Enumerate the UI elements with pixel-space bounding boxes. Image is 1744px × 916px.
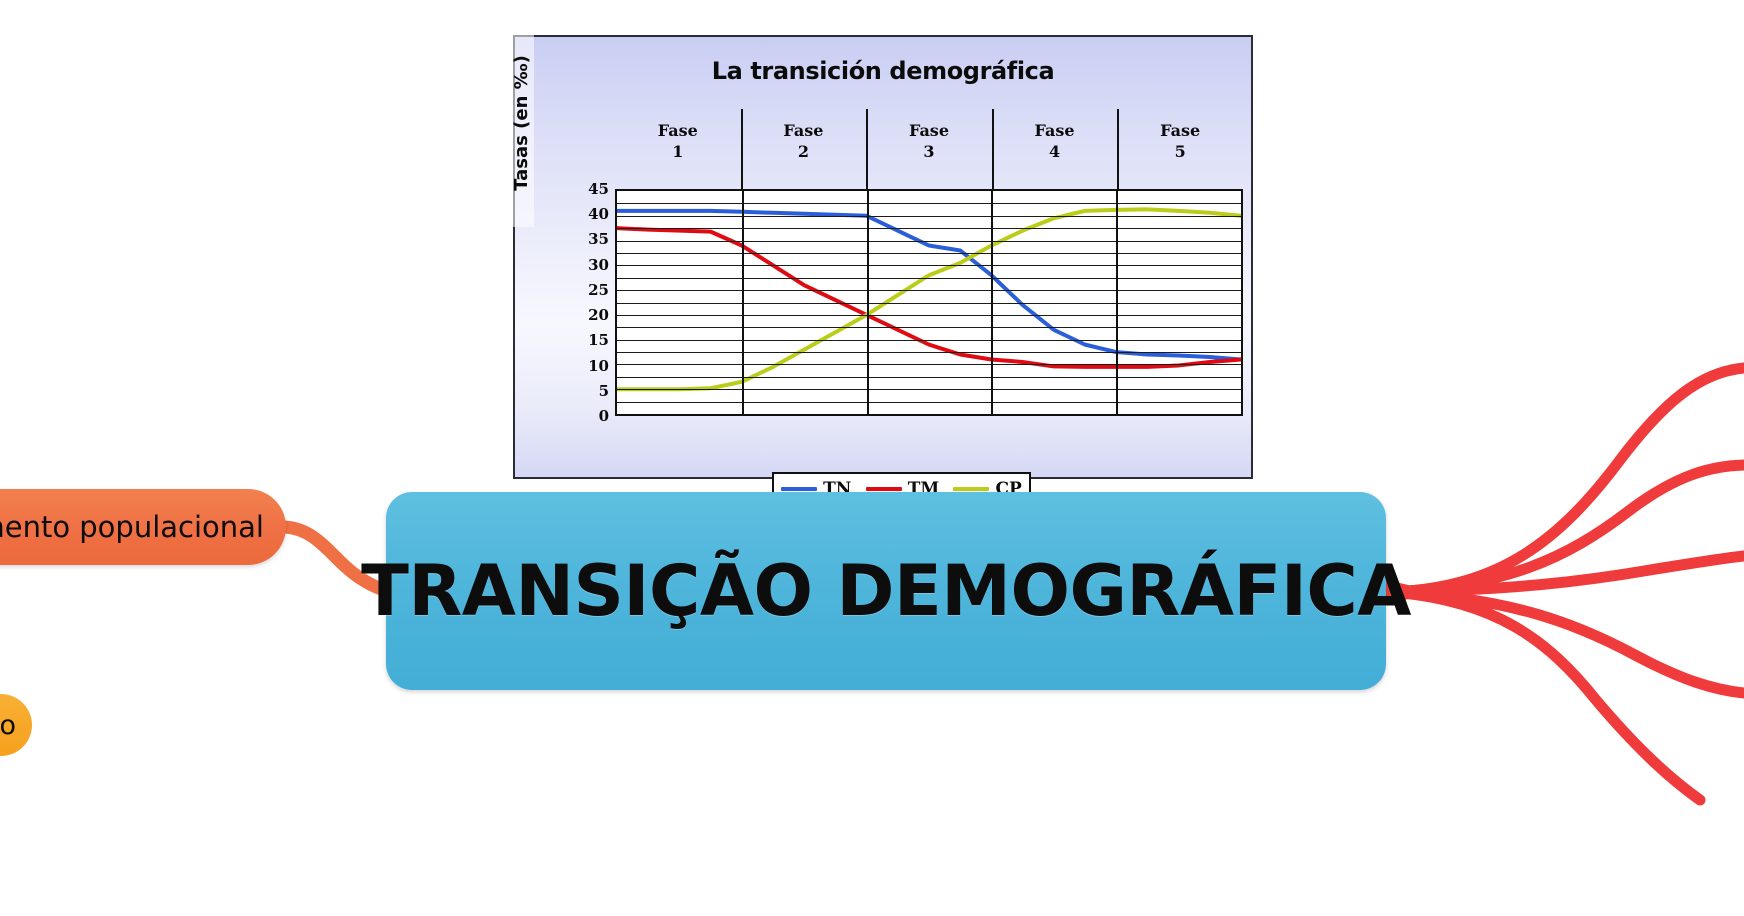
node-orange-label: Crescimento populacional xyxy=(0,510,264,544)
gridline-h-minor-37.5 xyxy=(617,228,1241,229)
gridline-h-minor-27.5 xyxy=(617,278,1241,279)
node-center-label: TRANSIÇÃO DEMOGRÁFICA xyxy=(361,550,1411,632)
node-amber-label: Envelhecimento xyxy=(0,710,16,741)
series-line-CP xyxy=(617,209,1241,389)
legend-swatch-TM xyxy=(866,487,902,491)
y-tick-40: 40 xyxy=(571,205,609,223)
phase-word-3: Fase xyxy=(909,121,949,140)
gridline-h-minor-42.5 xyxy=(617,203,1241,204)
gridline-h-30 xyxy=(617,265,1241,266)
gridline-h-minor-32.5 xyxy=(617,253,1241,254)
phase-header-4: Fase 4 xyxy=(992,117,1118,189)
y-tick-25: 25 xyxy=(571,281,609,299)
legend-swatch-CP xyxy=(953,487,989,491)
node-envelhecimento[interactable]: Envelhecimento xyxy=(0,694,32,756)
y-tick-0: 0 xyxy=(571,407,609,425)
phase-divider-40 xyxy=(867,191,869,414)
y-axis-tick-labels: 454035302520151050 xyxy=(571,189,609,416)
y-tick-10: 10 xyxy=(571,357,609,375)
gridline-h-35 xyxy=(617,241,1241,242)
phase-header-2: Fase 2 xyxy=(741,117,867,189)
branch-right-1 xyxy=(1392,368,1744,592)
phase-header-3: Fase 3 xyxy=(866,117,992,189)
y-tick-45: 45 xyxy=(571,180,609,198)
node-crescimento-populacional[interactable]: Crescimento populacional xyxy=(0,489,286,565)
y-tick-5: 5 xyxy=(571,382,609,400)
y-tick-20: 20 xyxy=(571,306,609,324)
branch-right-3 xyxy=(1392,556,1744,592)
gridline-h-5 xyxy=(617,389,1241,390)
gridline-h-20 xyxy=(617,315,1241,316)
y-axis-title: Tasas (en ‰) xyxy=(509,19,534,227)
phase-divider-80 xyxy=(1116,191,1118,414)
branch-right-5 xyxy=(1392,592,1700,800)
phase-word-1: Fase xyxy=(658,121,698,140)
legend-swatch-TN xyxy=(781,487,817,491)
phase-word-2: Fase xyxy=(783,121,823,140)
y-tick-35: 35 xyxy=(571,230,609,248)
demographic-transition-chart-panel: La transición demográfica Fase 1 Fase 2 … xyxy=(513,35,1253,479)
gridline-h-minor-7.5 xyxy=(617,377,1241,378)
series-line-TM xyxy=(617,228,1241,367)
phase-divider-60 xyxy=(991,191,993,414)
y-tick-30: 30 xyxy=(571,256,609,274)
gridline-h-minor-12.5 xyxy=(617,352,1241,353)
y-tick-15: 15 xyxy=(571,331,609,349)
gridline-h-minor-17.5 xyxy=(617,327,1241,328)
gridline-h-25 xyxy=(617,290,1241,291)
phase-header-strip: Fase 1 Fase 2 Fase 3 Fase 4 Fase 5 xyxy=(615,117,1243,189)
branch-right-4 xyxy=(1392,592,1744,693)
phase-number-1: 1 xyxy=(615,141,741,162)
phase-number-5: 5 xyxy=(1117,141,1243,162)
branch-right-2 xyxy=(1392,465,1744,592)
phase-header-5: Fase 5 xyxy=(1117,117,1243,189)
gridline-h-40 xyxy=(617,216,1241,217)
chart-plot-area xyxy=(615,189,1243,416)
phase-number-4: 4 xyxy=(992,141,1118,162)
phase-word-5: Fase xyxy=(1160,121,1200,140)
gridline-h-minor-2.5 xyxy=(617,402,1241,403)
phase-header-1: Fase 1 xyxy=(615,117,741,189)
gridline-h-15 xyxy=(617,340,1241,341)
node-transicao-demografica[interactable]: TRANSIÇÃO DEMOGRÁFICA xyxy=(386,492,1386,690)
phase-word-4: Fase xyxy=(1035,121,1075,140)
phase-number-2: 2 xyxy=(741,141,867,162)
phase-number-3: 3 xyxy=(866,141,992,162)
gridline-h-minor-22.5 xyxy=(617,303,1241,304)
chart-title: La transición demográfica xyxy=(515,57,1251,85)
phase-divider-20 xyxy=(742,191,744,414)
gridline-h-10 xyxy=(617,364,1241,365)
